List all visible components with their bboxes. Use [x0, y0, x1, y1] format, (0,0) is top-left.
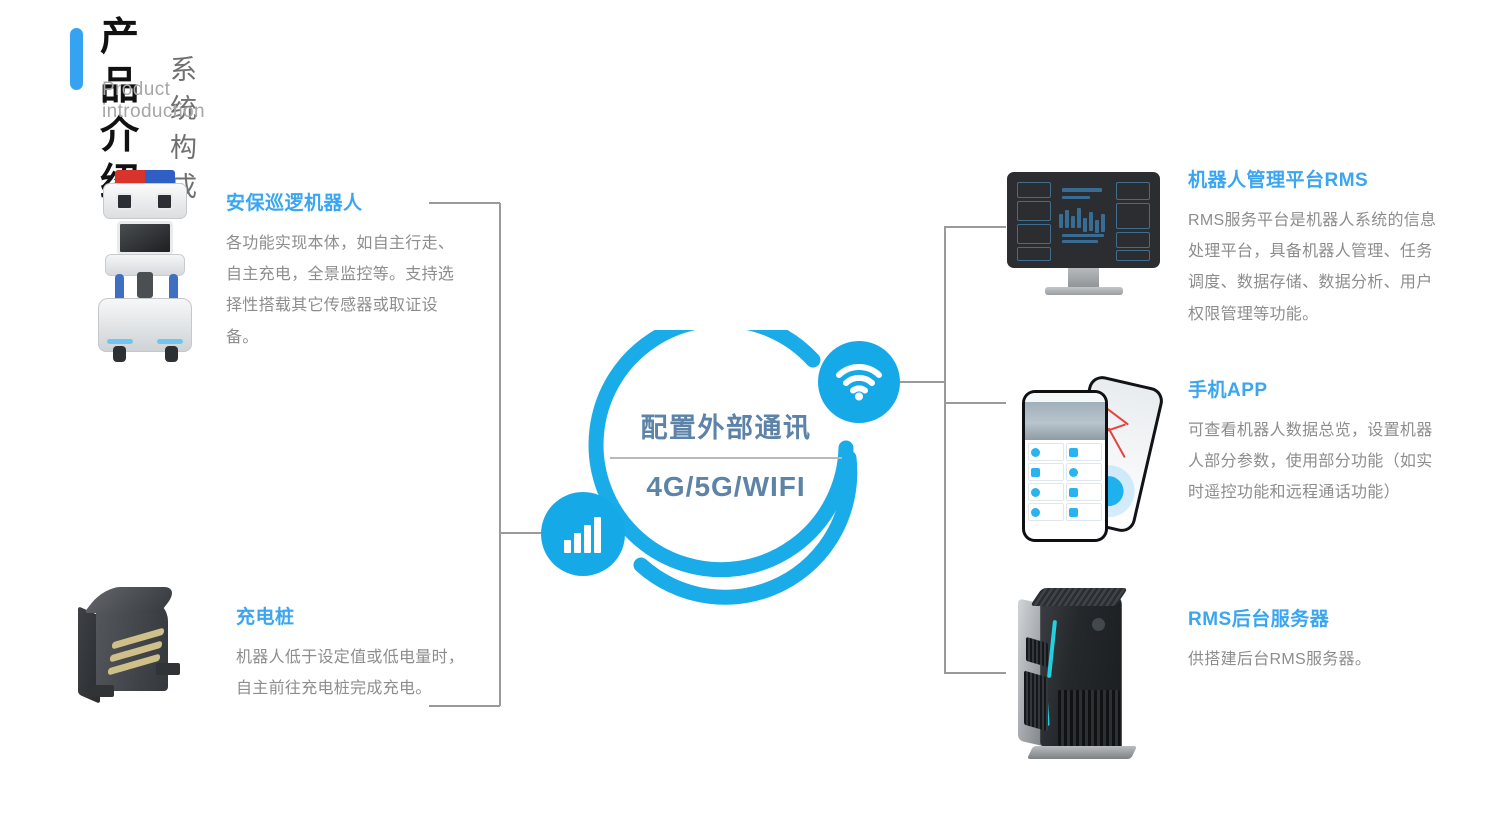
- charging-pile-image: [78, 585, 228, 720]
- desktop-monitor-image: [1007, 172, 1162, 297]
- right-bracket-middle-stub: [944, 402, 1006, 404]
- right-bracket-bottom-stub: [944, 672, 1006, 674]
- robot-stripe-right: [157, 339, 183, 344]
- block-security-patrol-robot: 安保巡逻机器人 各功能实现本体，如自主行走、自主充电，全景监控等。支持选择性搭载…: [226, 188, 466, 353]
- robot-head: [103, 183, 187, 219]
- block-body-charging-pile: 机器人低于设定值或低电量时，自主前往充电桩完成充电。: [236, 642, 476, 704]
- page-title-english: Product introduction: [102, 79, 205, 123]
- signal-bars-icon: [561, 514, 605, 554]
- phone-app-topbar: [1025, 393, 1105, 402]
- server-base-stand: [1027, 746, 1137, 759]
- block-rms-backend-server: RMS后台服务器 供搭建后台RMS服务器。: [1188, 604, 1438, 675]
- right-bracket-vertical-line: [944, 227, 946, 673]
- block-body-backend-server: 供搭建后台RMS服务器。: [1188, 644, 1438, 675]
- server-side-vent-lower: [1024, 671, 1048, 732]
- server-power-logo: [1092, 618, 1105, 631]
- header-accent-bar: [70, 28, 83, 90]
- center-value: 4G/5G/WIFI: [596, 471, 856, 503]
- center-label: 配置外部通讯: [596, 412, 856, 444]
- block-title-charging-pile: 充电桩: [236, 602, 476, 629]
- phone-icon-grid: [1025, 440, 1105, 524]
- block-body-mobile-app: 可查看机器人数据总览，设置机器人部分参数，使用部分功能（如实时遥控功能和远程通话…: [1188, 415, 1438, 509]
- robot-camera-left: [116, 193, 133, 210]
- robot-wheel-right: [165, 346, 178, 362]
- robot-base: [98, 298, 192, 352]
- block-rms-platform: 机器人管理平台RMS RMS服务平台是机器人系统的信息处理平台，具备机器人管理、…: [1188, 165, 1438, 330]
- block-charging-pile: 充电桩 机器人低于设定值或低电量时，自主前往充电桩完成充电。: [236, 602, 476, 704]
- phone-front-device: [1022, 390, 1108, 542]
- phone-camera-feed: [1025, 402, 1105, 440]
- robot-wheel-left: [113, 346, 126, 362]
- left-bracket-bottom-stub: [429, 705, 500, 707]
- block-title-robot: 安保巡逻机器人: [226, 188, 466, 215]
- wifi-icon: [835, 362, 883, 402]
- slide-canvas: 产品介绍 系统构成 Product introduction 配置外部通讯 4G…: [0, 0, 1499, 829]
- block-title-backend-server: RMS后台服务器: [1188, 604, 1438, 631]
- monitor-stand-base: [1045, 287, 1123, 295]
- server-tower-image: [1014, 578, 1164, 778]
- security-patrol-robot-image: [97, 170, 197, 365]
- robot-stripe-left: [107, 339, 133, 344]
- robot-display: [117, 221, 173, 255]
- charging-pile-foot-left: [88, 685, 114, 697]
- robot-center-column: [137, 272, 153, 298]
- monitor-screen-dashboard: [1013, 178, 1154, 262]
- block-body-rms-platform: RMS服务平台是机器人系统的信息处理平台，具备机器人管理、任务调度、数据存储、数…: [1188, 205, 1438, 330]
- block-title-mobile-app: 手机APP: [1188, 375, 1438, 402]
- server-front-vent: [1058, 690, 1120, 746]
- charging-pile-top: [84, 587, 180, 613]
- robot-camera-right: [156, 193, 173, 210]
- signal-badge[interactable]: [541, 492, 625, 576]
- block-mobile-app: 手机APP 可查看机器人数据总览，设置机器人部分参数，使用部分功能（如实时遥控功…: [1188, 375, 1438, 509]
- phone-front-screen-app: [1025, 393, 1105, 539]
- block-title-rms-platform: 机器人管理平台RMS: [1188, 165, 1438, 192]
- smartphone-image: [1014, 368, 1164, 548]
- charging-pile-foot-right: [156, 663, 180, 675]
- monitor-stand-neck: [1068, 268, 1099, 289]
- left-bracket-vertical-line: [499, 203, 501, 706]
- center-divider: [610, 457, 842, 459]
- server-top-vent: [1030, 588, 1128, 606]
- right-bracket-top-stub: [944, 226, 1006, 228]
- wifi-badge[interactable]: [818, 341, 900, 423]
- center-text-group: 配置外部通讯 4G/5G/WIFI: [596, 412, 856, 503]
- block-body-robot: 各功能实现本体，如自主行走、自主充电，全景监控等。支持选择性搭载其它传感器或取证…: [226, 228, 466, 353]
- monitor-bezel: [1007, 172, 1160, 268]
